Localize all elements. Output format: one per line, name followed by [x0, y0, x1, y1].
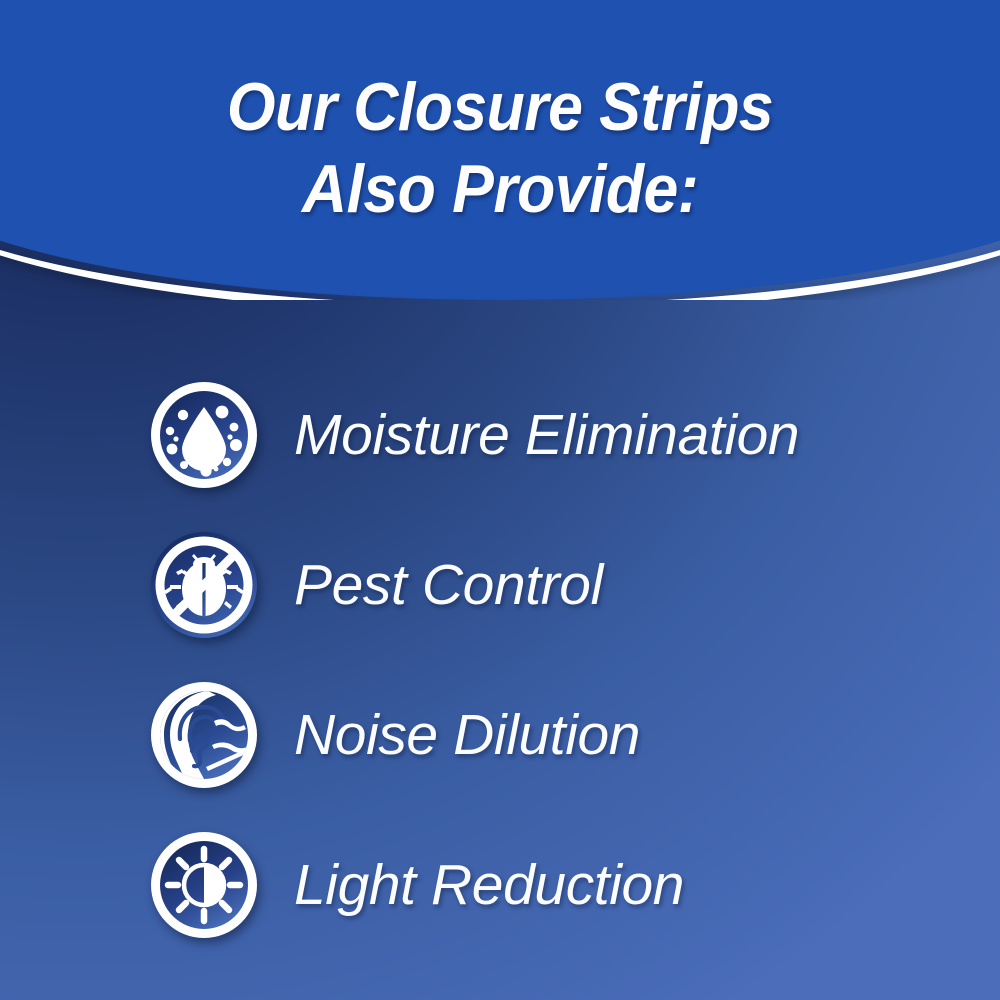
- list-item-label: Pest Control: [294, 552, 603, 618]
- list-item-label: Light Reduction: [294, 852, 684, 918]
- list-item: Noise Dilution: [0, 660, 1000, 810]
- half-sun-brightness-icon: [148, 829, 260, 941]
- list-item-label: Moisture Elimination: [294, 402, 799, 468]
- list-item: Moisture Elimination: [0, 360, 1000, 510]
- no-bug-icon: [148, 529, 260, 641]
- promotional-poster: Our Closure Strips Also Provide:: [0, 0, 1000, 1000]
- list-item-label: Noise Dilution: [294, 702, 640, 768]
- feature-list: Moisture Elimination: [0, 360, 1000, 960]
- page-title: Our Closure Strips Also Provide:: [40, 66, 960, 230]
- water-droplet-icon: [148, 379, 260, 491]
- ear-sound-waves-icon: [148, 679, 260, 791]
- list-item: Pest Control: [0, 510, 1000, 660]
- list-item: Light Reduction: [0, 810, 1000, 960]
